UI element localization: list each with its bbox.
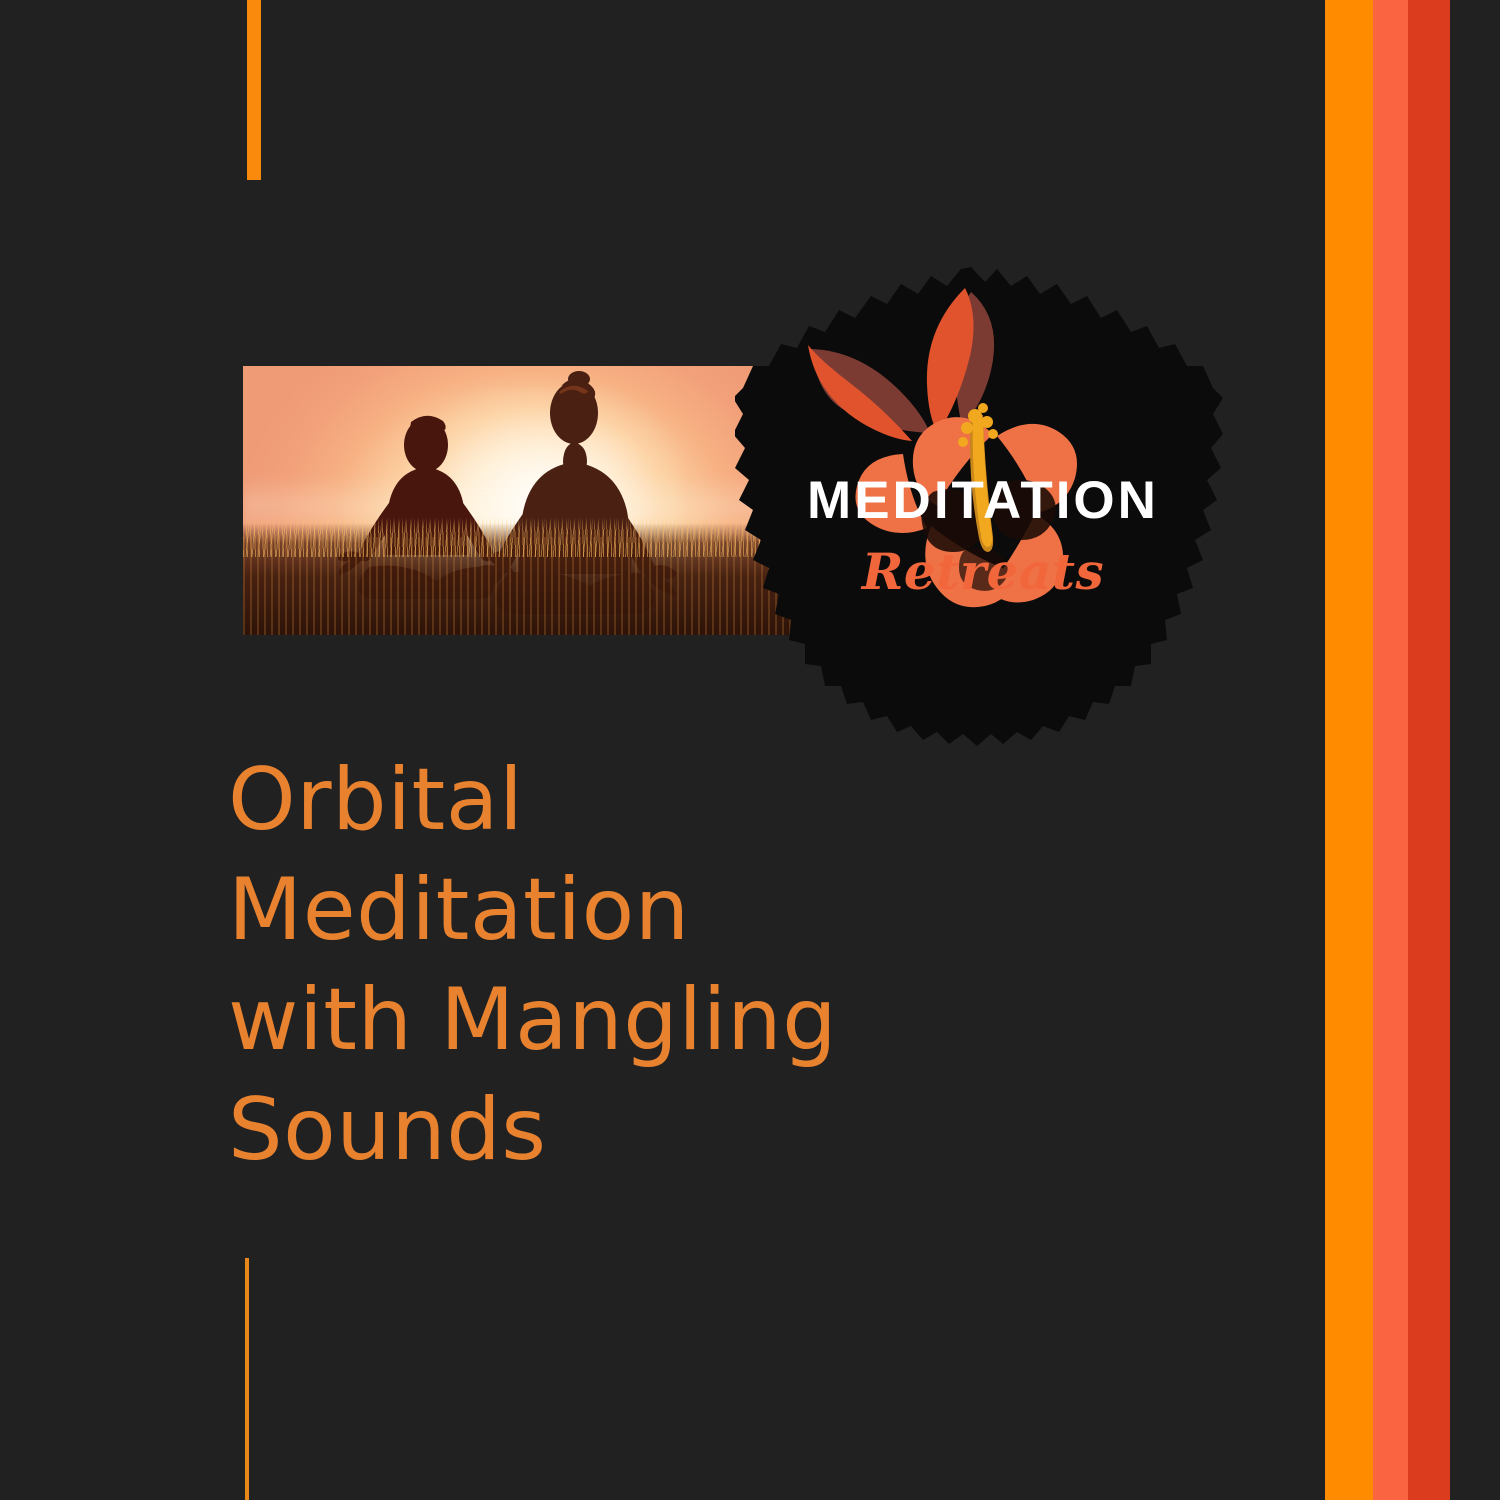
poster-canvas: MEDITATION Retreats Orbital Meditation w…: [0, 0, 1500, 1500]
edge-stripe-orange: [1325, 0, 1373, 1500]
edge-stripe-coral: [1373, 0, 1408, 1500]
page-title: Orbital Meditation with Mangling Sounds: [228, 745, 848, 1185]
accent-rule-top: [247, 0, 261, 180]
edge-stripe-red: [1408, 0, 1450, 1500]
brand-logo: MEDITATION Retreats: [735, 258, 1231, 754]
hibiscus-flower-icon: [735, 258, 1231, 754]
accent-rule-bottom: [245, 1258, 249, 1500]
